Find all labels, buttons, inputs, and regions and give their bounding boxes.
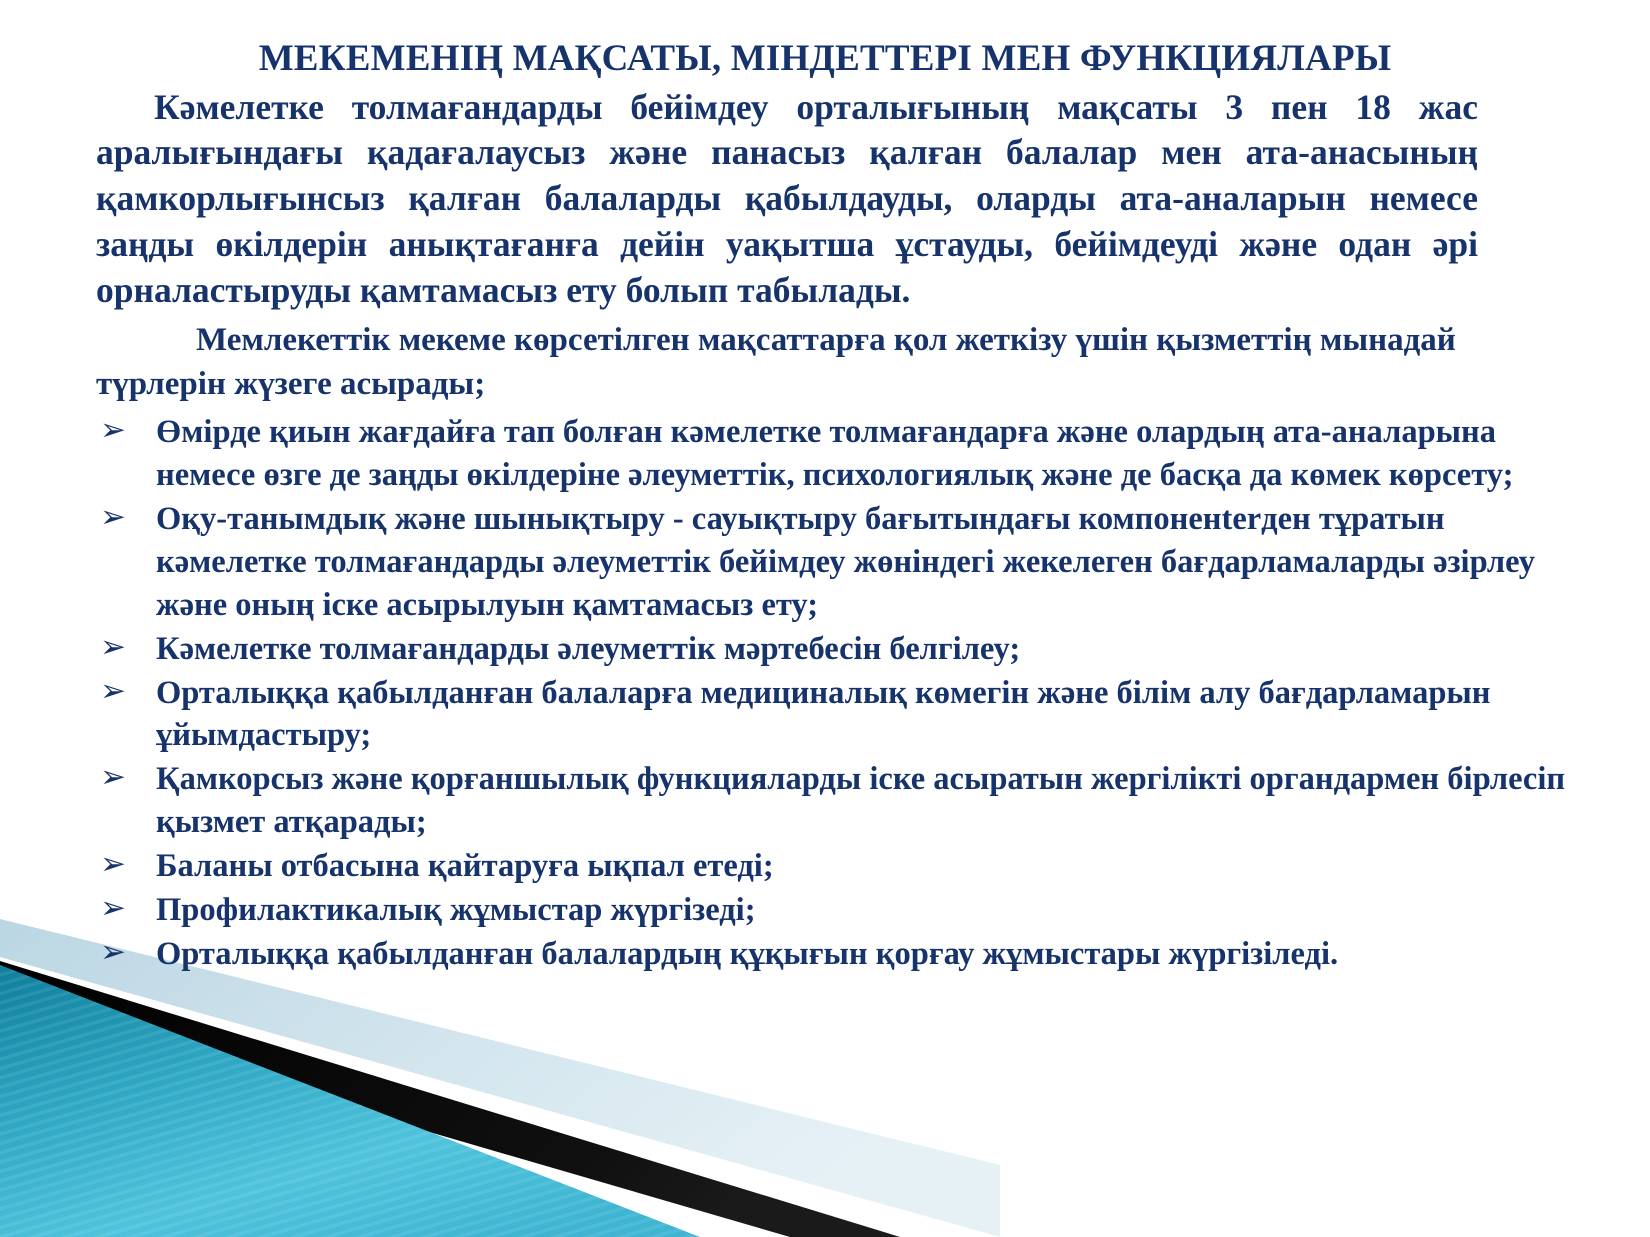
list-item: ➢ Оқу-танымдық және шынықтыру - сауықтыр… [96,498,1580,627]
list-item: ➢ Баланы отбасына қайтаруға ықпал етеді; [96,845,1580,888]
bullet-arrow-icon: ➢ [100,756,134,799]
decoration-black-band [0,961,900,1237]
list-item-label: Кәмелетке толмағандарды әлеуметтік мәрте… [156,631,1020,667]
page-title: МЕКЕМЕНІҢ МАҚСАТЫ, МІНДЕТТЕРІ МЕН ФУНКЦИ… [0,0,1650,85]
bullet-arrow-icon: ➢ [100,670,134,713]
paragraph-purpose: Кәмелетке толмағандарды бейімдеу орталығ… [0,85,1650,314]
list-item: ➢ Профилактикалық жұмыстар жүргізеді; [96,889,1580,932]
list-item: ➢ Орталыққа қабылданған балалардың құқығ… [96,933,1580,976]
bullet-arrow-icon: ➢ [100,626,134,669]
bullet-arrow-icon: ➢ [100,409,134,452]
list-item: ➢ Өмірде қиын жағдайға тап болған кәмеле… [96,411,1580,497]
bullet-arrow-icon: ➢ [100,843,134,886]
list-item: ➢ Орталыққа қабылданған балаларға медици… [96,672,1580,758]
decoration-teal-stripes [0,965,700,1237]
list-item-label: Орталыққа қабылданған балалардың құқығын… [156,936,1338,972]
bullet-arrow-icon: ➢ [100,887,134,930]
list-item-label: Баланы отбасына қайтаруға ықпал етеді; [156,848,774,884]
bullet-arrow-icon: ➢ [100,931,134,974]
slide-content: МЕКЕМЕНІҢ МАҚСАТЫ, МІНДЕТТЕРІ МЕН ФУНКЦИ… [0,0,1650,976]
list-item: ➢ Кәмелетке толмағандарды әлеуметтік мәр… [96,628,1580,671]
paragraph-activities-intro: Мемлекеттік мекеме көрсетілген мақсаттар… [0,313,1650,407]
list-item-label: Орталыққа қабылданған балаларға медицина… [156,675,1491,754]
list-item: ➢ Қамкорсыз және қорғаншылық функциялард… [96,758,1580,844]
list-item-label: Қамкорсыз және қорғаншылық функцияларды … [156,761,1565,840]
list-item-label: Оқу-танымдық және шынықтыру - сауықтыру … [156,501,1535,623]
bullet-arrow-icon: ➢ [100,496,134,539]
slide-canvas: МЕКЕМЕНІҢ МАҚСАТЫ, МІНДЕТТЕРІ МЕН ФУНКЦИ… [0,0,1650,1237]
list-item-label: Профилактикалық жұмыстар жүргізеді; [156,892,756,928]
list-item-label: Өмірде қиын жағдайға тап болған кәмелетк… [156,414,1513,493]
functions-bullet-list: ➢ Өмірде қиын жағдайға тап болған кәмеле… [0,411,1650,976]
decoration-teal-triangle [0,965,700,1237]
